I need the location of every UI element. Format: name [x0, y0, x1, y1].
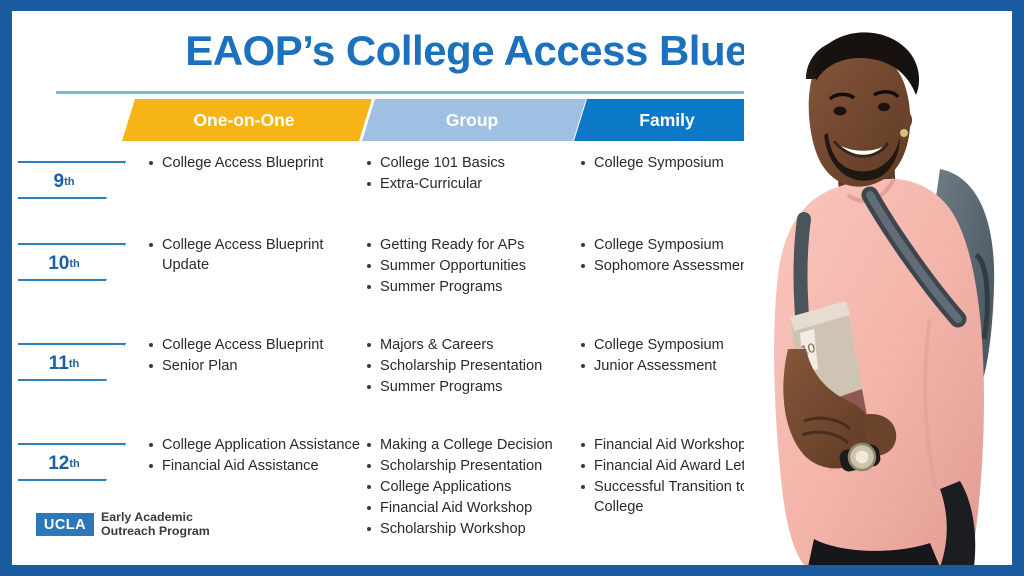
item-list: College Access Blueprint — [148, 153, 364, 173]
item-list: College Access Blueprint Update — [148, 235, 364, 275]
slide-canvas: EAOP’s College Access Blueprint One-on-O… — [12, 11, 1012, 565]
list-item: Summer Opportunities — [366, 256, 578, 276]
ucla-eaop-logo: UCLA Early Academic Outreach Program — [36, 511, 210, 538]
list-item: Financial Aid Award Letter — [580, 456, 764, 476]
item-list: Getting Ready for APsSummer Opportunitie… — [366, 235, 578, 297]
eaop-logo-line2: Outreach Program — [101, 525, 210, 539]
ucla-wordmark-icon: UCLA — [36, 513, 94, 536]
list-item: College 101 Basics — [366, 153, 578, 173]
slide-frame: EAOP’s College Access Blueprint One-on-O… — [0, 0, 1024, 576]
grade-badge-9: 9th — [18, 161, 126, 199]
cell-12-group: Making a College DecisionScholarship Pre… — [366, 435, 578, 540]
tab-family[interactable]: Family — [574, 99, 760, 141]
tab-one-on-one-label: One-on-One — [193, 110, 294, 131]
grade-suffix: th — [69, 458, 79, 470]
cell-11-family: College SymposiumJunior Assessment — [580, 335, 764, 377]
cell-9-family: College Symposium — [580, 153, 764, 174]
list-item: College Access Blueprint — [148, 153, 364, 173]
item-list: College Application AssistanceFinancial … — [148, 435, 364, 476]
grade-number: 9 — [54, 171, 65, 193]
item-list: College SymposiumJunior Assessment — [580, 335, 764, 376]
eaop-logo-text: Early Academic Outreach Program — [101, 511, 210, 538]
tab-family-label: Family — [639, 110, 694, 131]
eaop-logo-line1: Early Academic — [101, 511, 210, 525]
student-photo-graphic: 10 — [744, 19, 1012, 565]
tab-group[interactable]: Group — [362, 99, 586, 141]
cell-10-one-on-one: College Access Blueprint Update — [148, 235, 364, 276]
list-item: Making a College Decision — [366, 435, 578, 455]
cell-9-one-on-one: College Access Blueprint — [148, 153, 364, 174]
grade-badge-10-label: 10th — [18, 245, 110, 283]
list-item: College Applications — [366, 477, 578, 497]
grade-number: 12 — [48, 453, 69, 475]
list-item: College Symposium — [580, 153, 764, 173]
grade-badge-11: 11th — [18, 343, 126, 381]
grade-number: 10 — [48, 253, 69, 275]
list-item: Summer Programs — [366, 377, 578, 397]
list-item: Scholarship Presentation — [366, 356, 578, 376]
cell-12-one-on-one: College Application AssistanceFinancial … — [148, 435, 364, 477]
item-list: Financial Aid WorkshopFinancial Aid Awar… — [580, 435, 764, 517]
tab-group-label: Group — [446, 110, 499, 131]
item-list: College Symposium — [580, 153, 764, 173]
cell-10-family: College SymposiumSophomore Assessment — [580, 235, 764, 277]
grade-badge-10: 10th — [18, 243, 126, 281]
list-item: Sophomore Assessment — [580, 256, 764, 276]
list-item: Senior Plan — [148, 356, 364, 376]
list-item: College Application Assistance — [148, 435, 364, 455]
grade-badge-9-label: 9th — [18, 163, 110, 201]
list-item: College Access Blueprint — [148, 335, 364, 355]
grade-badge-12: 12th — [18, 443, 126, 481]
item-list: College Access BlueprintSenior Plan — [148, 335, 364, 376]
list-item: Extra-Curricular — [366, 174, 578, 194]
list-item: Scholarship Workshop — [366, 519, 578, 539]
cell-11-group: Majors & CareersScholarship Presentation… — [366, 335, 578, 398]
grade-suffix: th — [69, 358, 79, 370]
item-list: College 101 BasicsExtra-Curricular — [366, 153, 578, 194]
grade-suffix: th — [64, 176, 74, 188]
list-item: Financial Aid Workshop — [580, 435, 764, 455]
item-list: Majors & CareersScholarship Presentation… — [366, 335, 578, 397]
tab-one-on-one[interactable]: One-on-One — [122, 99, 372, 141]
cell-10-group: Getting Ready for APsSummer Opportunitie… — [366, 235, 578, 298]
student-photo: 10 — [744, 19, 1012, 565]
grade-badge-12-label: 12th — [18, 445, 110, 483]
list-item: Successful Transition to College — [580, 477, 764, 517]
grade-number: 11 — [49, 353, 69, 375]
cell-9-group: College 101 BasicsExtra-Curricular — [366, 153, 578, 195]
grade-badge-11-label: 11th — [18, 345, 110, 383]
list-item: Financial Aid Workshop — [366, 498, 578, 518]
list-item: Majors & Careers — [366, 335, 578, 355]
grade-suffix: th — [69, 258, 79, 270]
list-item: College Symposium — [580, 335, 764, 355]
item-list: College SymposiumSophomore Assessment — [580, 235, 764, 276]
cell-11-one-on-one: College Access BlueprintSenior Plan — [148, 335, 364, 377]
list-item: College Access Blueprint Update — [148, 235, 364, 275]
list-item: Junior Assessment — [580, 356, 764, 376]
list-item: Financial Aid Assistance — [148, 456, 364, 476]
list-item: College Symposium — [580, 235, 764, 255]
cell-12-family: Financial Aid WorkshopFinancial Aid Awar… — [580, 435, 764, 518]
list-item: Scholarship Presentation — [366, 456, 578, 476]
list-item: Getting Ready for APs — [366, 235, 578, 255]
item-list: Making a College DecisionScholarship Pre… — [366, 435, 578, 539]
list-item: Summer Programs — [366, 277, 578, 297]
